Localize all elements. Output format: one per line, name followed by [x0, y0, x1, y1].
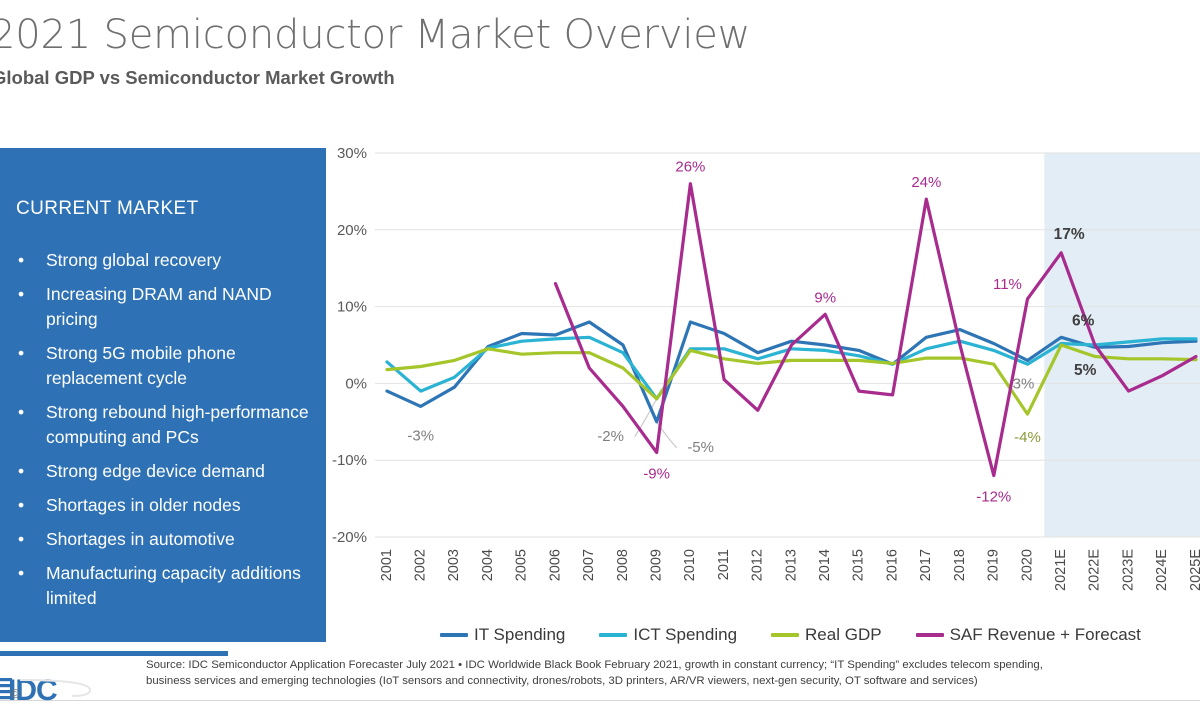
current-market-list-item: •Shortages in automotive — [14, 527, 314, 552]
legend-item[interactable]: Real GDP — [771, 625, 882, 645]
list-item-label: Strong edge device demand — [46, 461, 265, 481]
x-tick-label: 2022E — [1087, 549, 1103, 591]
bullet-icon: • — [18, 248, 24, 273]
y-tick-label: -10% — [332, 452, 367, 469]
list-item-label: Manufacturing capacity additions limited — [46, 563, 301, 608]
x-tick-label: 2018 — [952, 549, 968, 581]
x-tick-label: 2009 — [648, 549, 664, 581]
bullet-icon: • — [18, 459, 24, 484]
source-note-line-2: business services and emerging technolog… — [146, 674, 1192, 690]
page-title: 2021 Semiconductor Market Overview — [0, 12, 750, 58]
x-tick-label: 2004 — [480, 549, 496, 581]
x-tick-label: 2013 — [783, 549, 799, 581]
slide-header: 2021 Semiconductor Market Overview Globa… — [0, 0, 1200, 110]
data-label: -12% — [976, 489, 1011, 506]
x-tick-label: 2012 — [750, 549, 766, 581]
footer-separator — [0, 700, 1200, 701]
x-tick-label: 2021E — [1053, 549, 1069, 591]
x-tick-label: 2008 — [615, 549, 631, 581]
legend-swatch-icon — [916, 633, 944, 637]
annotation-leader-lines — [635, 399, 677, 448]
data-label: -4% — [1014, 429, 1041, 446]
data-label: -3% — [407, 427, 434, 444]
bullet-icon: • — [18, 282, 24, 307]
current-market-list-item: •Manufacturing capacity additions limite… — [14, 561, 314, 611]
current-market-list: •Strong global recovery•Increasing DRAM … — [14, 248, 314, 620]
bullet-icon: • — [18, 341, 24, 366]
x-tick-label: 2011 — [716, 549, 732, 580]
legend-label: SAF Revenue + Forecast — [950, 625, 1141, 645]
data-label: 5% — [1074, 362, 1097, 379]
x-tick-label: 2001 — [379, 549, 395, 581]
source-note-line-1: Source: IDC Semiconductor Application Fo… — [146, 658, 1192, 674]
chart-data-labels: -3%-2%-5%-9%26%9%24%-12%-4%3%11%17%6%5% — [407, 159, 1096, 506]
current-market-list-item: •Increasing DRAM and NAND pricing — [14, 282, 314, 332]
x-tick-label: 2002 — [413, 549, 429, 581]
x-tick-label: 2010 — [682, 549, 698, 581]
panel-heading: CURRENT MARKET — [16, 198, 199, 220]
source-note: Source: IDC Semiconductor Application Fo… — [146, 658, 1192, 689]
list-item-label: Strong rebound high-performance computin… — [46, 402, 309, 447]
current-market-list-item: •Strong edge device demand — [14, 459, 314, 484]
x-tick-label: 2025E — [1188, 549, 1200, 591]
idc-copyright-mark: © — [10, 686, 20, 701]
y-tick-label: -20% — [332, 529, 367, 546]
bullet-icon: • — [18, 493, 24, 518]
y-tick-label: 10% — [337, 299, 367, 316]
y-tick-label: 0% — [345, 375, 367, 392]
y-tick-label: 30% — [337, 145, 367, 162]
page-subtitle: Global GDP vs Semiconductor Market Growt… — [0, 67, 395, 89]
legend-swatch-icon — [599, 633, 627, 637]
x-tick-label: 2020 — [1019, 549, 1035, 581]
bullet-icon: • — [18, 400, 24, 425]
data-label: 17% — [1054, 226, 1085, 243]
current-market-list-item: •Strong global recovery — [14, 248, 314, 273]
x-tick-label: 2006 — [547, 549, 563, 581]
y-tick-label: 20% — [337, 222, 367, 239]
list-item-label: Strong global recovery — [46, 250, 221, 270]
x-tick-label: 2007 — [581, 549, 597, 581]
data-label: 11% — [993, 276, 1022, 293]
list-item-label: Strong 5G mobile phone replacement cycle — [46, 343, 236, 388]
x-tick-label: 2023E — [1120, 549, 1136, 591]
current-market-list-item: •Strong rebound high-performance computi… — [14, 400, 314, 450]
data-label: -9% — [643, 466, 670, 483]
x-tick-label: 2019 — [986, 549, 1002, 581]
bullet-icon: • — [18, 561, 24, 586]
chart-legend: IT SpendingICT SpendingReal GDPSAF Reven… — [440, 620, 1140, 650]
x-tick-label: 2024E — [1154, 549, 1170, 591]
legend-swatch-icon — [440, 633, 468, 637]
legend-label: IT Spending — [474, 625, 565, 645]
idc-logo: IDC © — [0, 666, 112, 710]
current-market-panel: CURRENT MARKET •Strong global recovery•I… — [0, 148, 326, 642]
data-label: 26% — [675, 159, 705, 176]
current-market-list-item: •Shortages in older nodes — [14, 493, 314, 518]
x-tick-label: 2014 — [817, 549, 833, 581]
data-label: -5% — [687, 439, 714, 456]
footer-accent-bar — [0, 651, 228, 656]
data-label: -2% — [597, 428, 624, 445]
legend-label: ICT Spending — [633, 625, 737, 645]
x-tick-label: 2017 — [918, 549, 934, 581]
x-tick-label: 2003 — [446, 549, 462, 581]
legend-item[interactable]: IT Spending — [440, 625, 565, 645]
data-label: 6% — [1072, 312, 1095, 329]
chart-canvas: 30%20%10%0%-10%-20% -3%-2%-5%-9%26%9%24%… — [330, 140, 1200, 610]
data-label: 24% — [911, 174, 941, 191]
x-tick-label: 2005 — [514, 549, 530, 581]
data-label: 9% — [814, 289, 836, 306]
current-market-list-item: •Strong 5G mobile phone replacement cycl… — [14, 341, 314, 391]
legend-label: Real GDP — [805, 625, 882, 645]
x-tick-label: 2015 — [851, 549, 867, 581]
legend-item[interactable]: ICT Spending — [599, 625, 737, 645]
list-item-label: Shortages in older nodes — [46, 495, 241, 515]
x-axis-tick-labels: 2001200220032004200520062007200820092010… — [379, 549, 1200, 591]
x-tick-label: 2016 — [884, 549, 900, 581]
data-label: 3% — [1013, 375, 1035, 392]
list-item-label: Increasing DRAM and NAND pricing — [46, 284, 272, 329]
y-axis-tick-labels: 30%20%10%0%-10%-20% — [332, 145, 367, 546]
list-item-label: Shortages in automotive — [46, 529, 235, 549]
bullet-icon: • — [18, 527, 24, 552]
legend-swatch-icon — [771, 633, 799, 637]
growth-line-chart: 30%20%10%0%-10%-20% -3%-2%-5%-9%26%9%24%… — [330, 140, 1200, 610]
legend-item[interactable]: SAF Revenue + Forecast — [916, 625, 1141, 645]
